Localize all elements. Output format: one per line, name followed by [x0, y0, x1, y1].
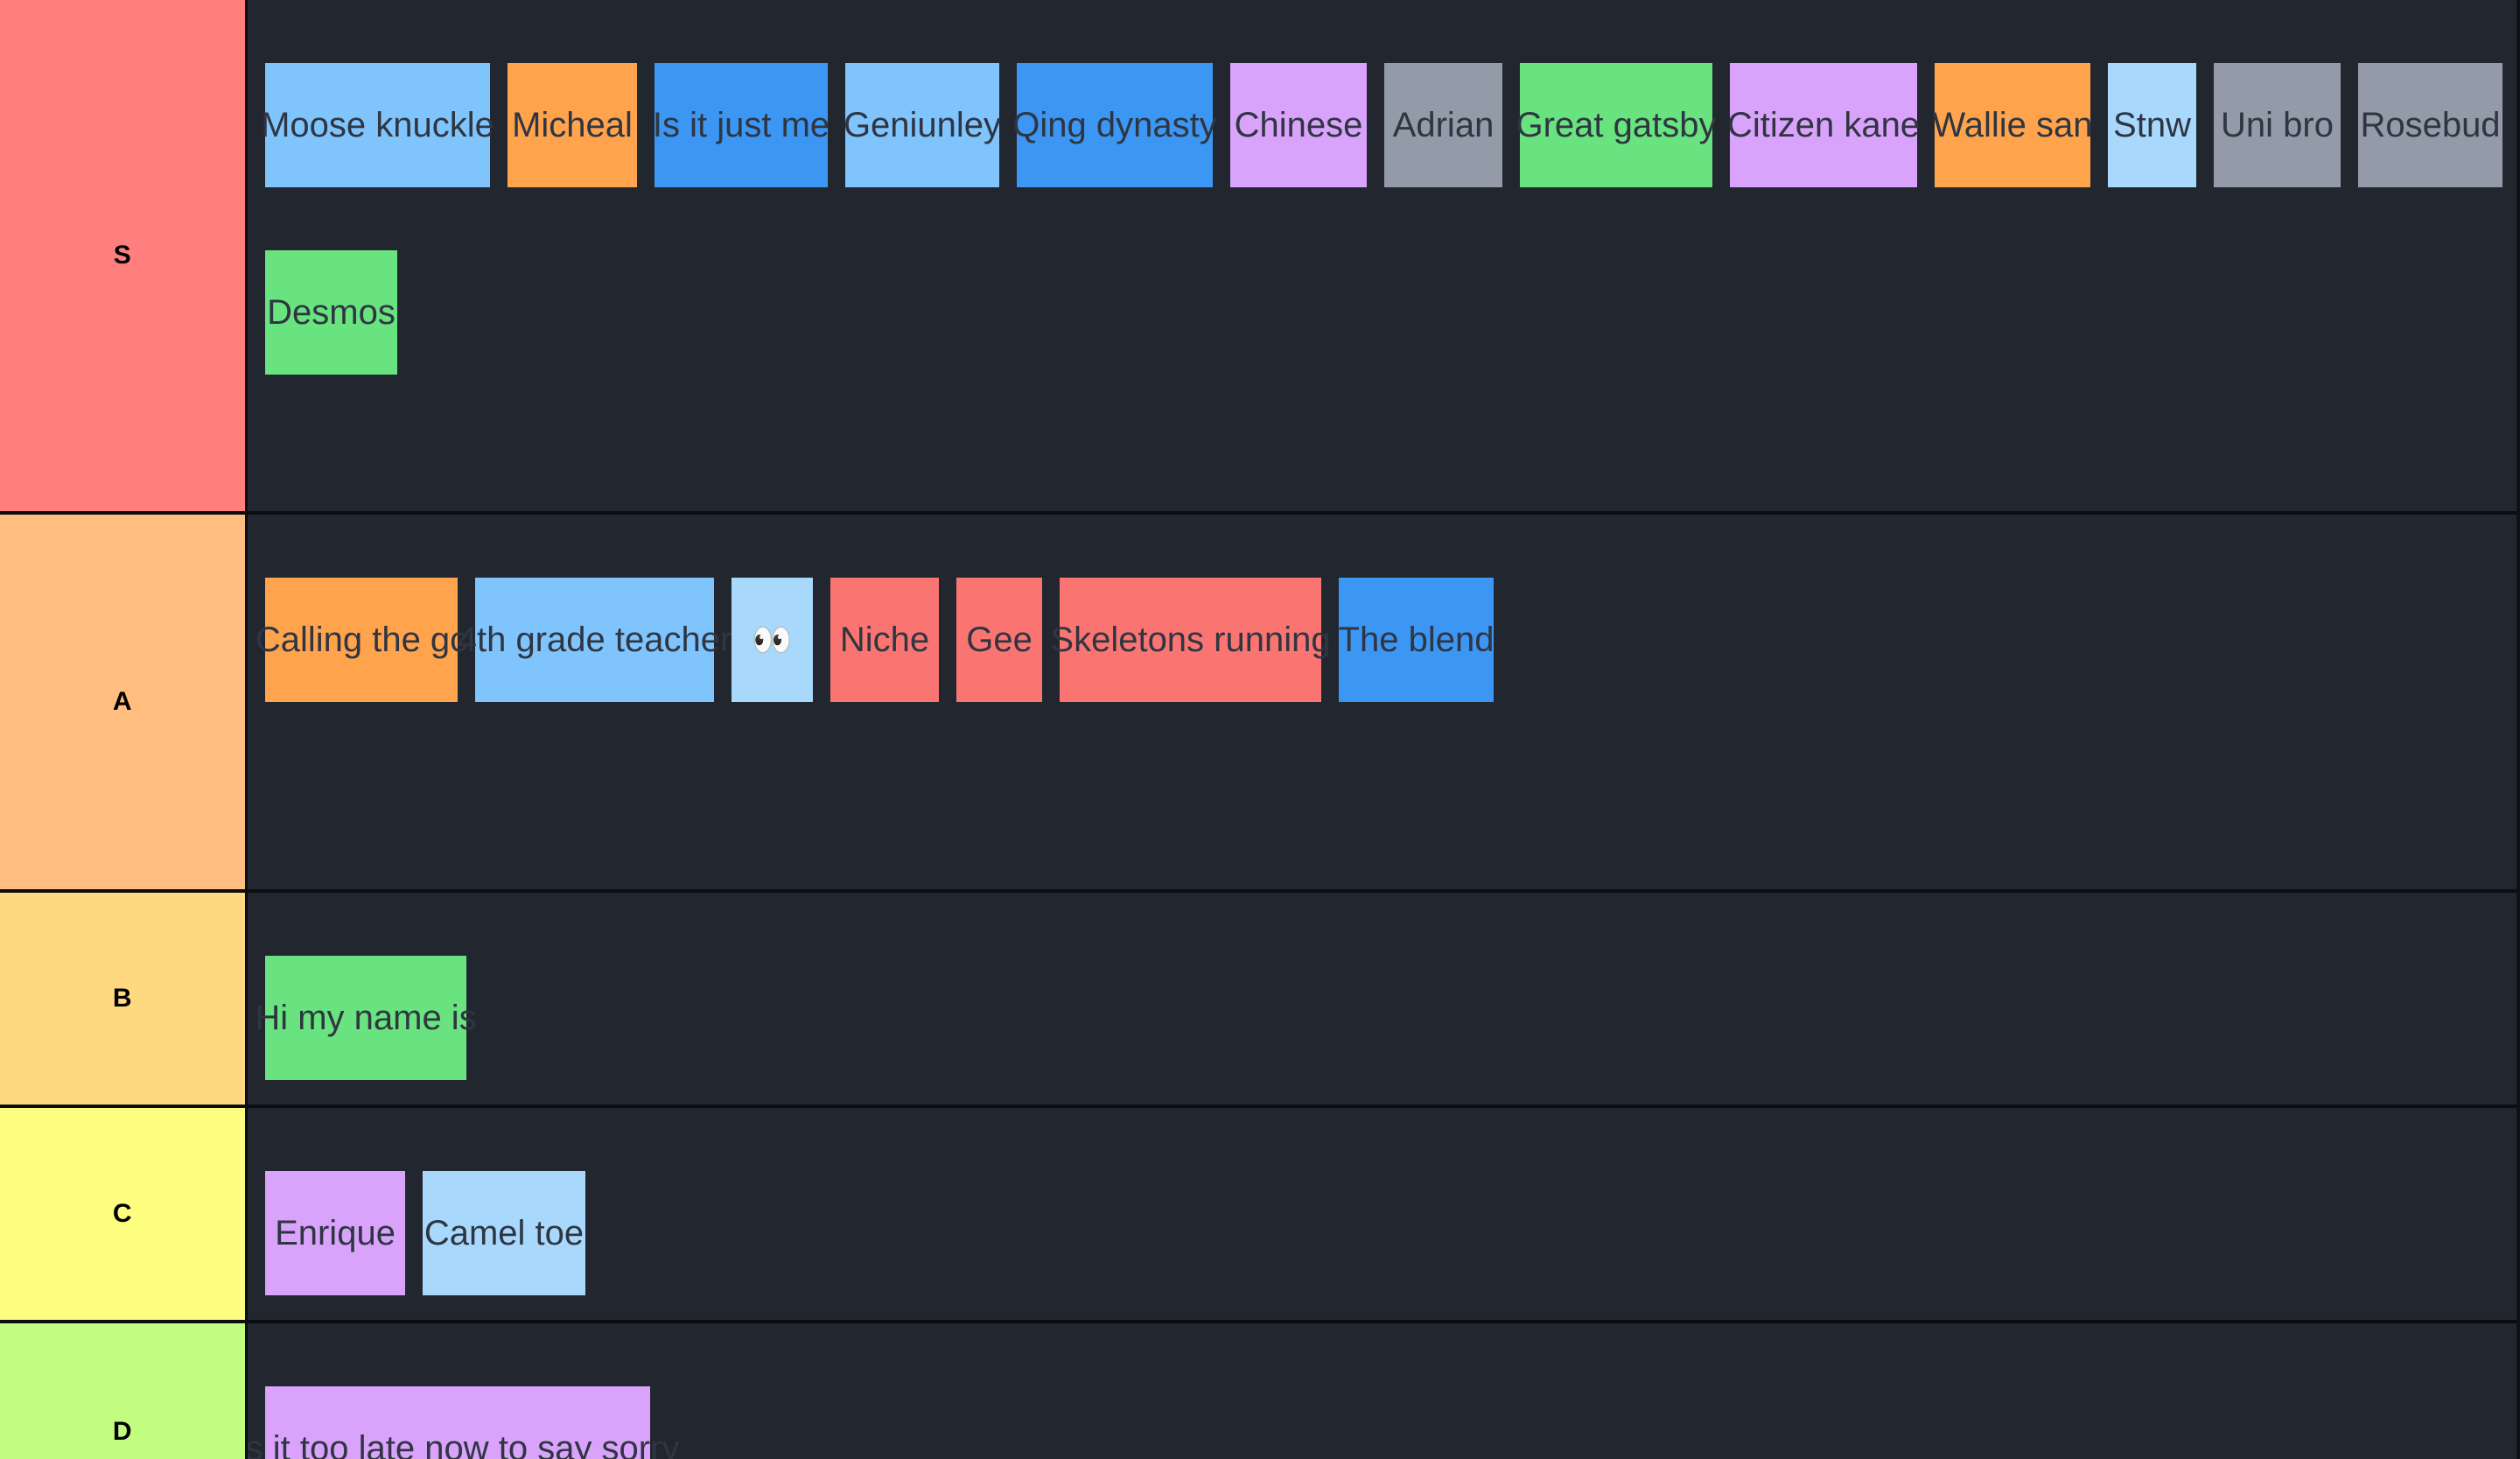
tier-row-c: CEnriqueCamel toe — [0, 1108, 2516, 1323]
tile-slot: Adrian — [1367, 0, 1502, 187]
tier-item-tile[interactable]: Stnw — [2108, 63, 2196, 187]
tile-slot: Skeletons running — [1042, 515, 1321, 702]
tier-item-tile[interactable]: Calling the gc — [265, 578, 458, 702]
tile-slot: Rosebud — [2341, 0, 2502, 187]
eyes-emoji[interactable]: 👀 — [731, 578, 813, 702]
tier-items-a: Calling the gc4th grade teacher👀NicheGee… — [248, 515, 2516, 889]
tier-label-a[interactable]: A — [0, 515, 248, 889]
tile-slot: Qing dynasty — [999, 0, 1213, 187]
tile-slot: Calling the gc — [248, 515, 458, 702]
tier-item-tile[interactable]: Wallie san — [1935, 63, 2090, 187]
tier-item-tile[interactable]: Gee — [956, 578, 1042, 702]
tier-row-a: ACalling the gc4th grade teacher👀NicheGe… — [0, 515, 2516, 893]
tier-label-b[interactable]: B — [0, 893, 248, 1105]
tier-row-b: BHi my name is — [0, 893, 2516, 1108]
tile-slot: Moose knuckle — [248, 0, 490, 187]
tile-slot: Geniunley — [828, 0, 999, 187]
tier-item-tile[interactable]: Desmos — [265, 250, 397, 375]
tile-slot: Is it just me — [637, 0, 828, 187]
tier-item-tile[interactable]: Citizen kane — [1730, 63, 1917, 187]
tile-slot: Stnw — [2090, 0, 2196, 187]
tier-item-tile[interactable]: Adrian — [1384, 63, 1502, 187]
tier-item-tile[interactable]: Is it too late now to say sorry — [265, 1386, 650, 1459]
tile-slot: 4th grade teacher — [458, 515, 714, 702]
tier-item-tile[interactable]: Hi my name is — [265, 956, 466, 1080]
tier-list: SMoose knuckleMichealIs it just meGeniun… — [0, 0, 2520, 1459]
tier-item-tile[interactable]: Niche — [830, 578, 939, 702]
tier-item-tile[interactable]: Camel toe — [423, 1171, 585, 1295]
tile-slot: Gee — [939, 515, 1042, 702]
tier-label-s[interactable]: S — [0, 0, 248, 511]
tier-item-tile[interactable]: Great gatsby — [1520, 63, 1712, 187]
tile-slot: Micheal — [490, 0, 637, 187]
tile-slot: Is it too late now to say sorry — [248, 1323, 650, 1459]
tier-label-c[interactable]: C — [0, 1108, 248, 1320]
tier-item-tile[interactable]: Moose knuckle — [265, 63, 490, 187]
tier-item-tile[interactable]: Enrique — [265, 1171, 405, 1295]
tile-slot: The blend — [1321, 515, 1494, 702]
tier-item-tile[interactable]: Micheal — [507, 63, 637, 187]
tile-slot: Hi my name is — [248, 893, 466, 1080]
tier-item-tile[interactable]: Skeletons running — [1060, 578, 1321, 702]
tier-row-s: SMoose knuckleMichealIs it just meGeniun… — [0, 0, 2516, 515]
tier-item-tile[interactable]: 4th grade teacher — [475, 578, 714, 702]
tier-item-tile[interactable]: Is it just me — [654, 63, 828, 187]
tile-slot: Great gatsby — [1502, 0, 1712, 187]
tile-slot: Desmos — [248, 187, 397, 375]
tile-slot: Enrique — [248, 1108, 405, 1295]
tile-slot: Chinese — [1213, 0, 1367, 187]
tile-slot: Camel toe — [405, 1108, 585, 1295]
tier-items-d: Is it too late now to say sorry — [248, 1323, 2516, 1459]
tile-slot: Wallie san — [1917, 0, 2090, 187]
tier-item-tile[interactable]: Qing dynasty — [1017, 63, 1213, 187]
tier-items-c: EnriqueCamel toe — [248, 1108, 2516, 1320]
tier-items-s: Moose knuckleMichealIs it just meGeniunl… — [248, 0, 2516, 511]
tier-item-tile[interactable]: Rosebud — [2358, 63, 2502, 187]
tier-item-tile[interactable]: Geniunley — [845, 63, 999, 187]
tile-slot: Citizen kane — [1712, 0, 1917, 187]
tier-label-d[interactable]: D — [0, 1323, 248, 1459]
tile-slot: Uni bro — [2196, 0, 2341, 187]
tier-row-d: DIs it too late now to say sorry — [0, 1323, 2516, 1459]
tile-slot: 👀 — [714, 515, 813, 702]
tier-item-tile[interactable]: The blend — [1339, 578, 1494, 702]
tier-item-tile[interactable]: Uni bro — [2214, 63, 2341, 187]
tier-item-tile[interactable]: Chinese — [1230, 63, 1367, 187]
tier-items-b: Hi my name is — [248, 893, 2516, 1105]
tile-slot: Niche — [813, 515, 939, 702]
